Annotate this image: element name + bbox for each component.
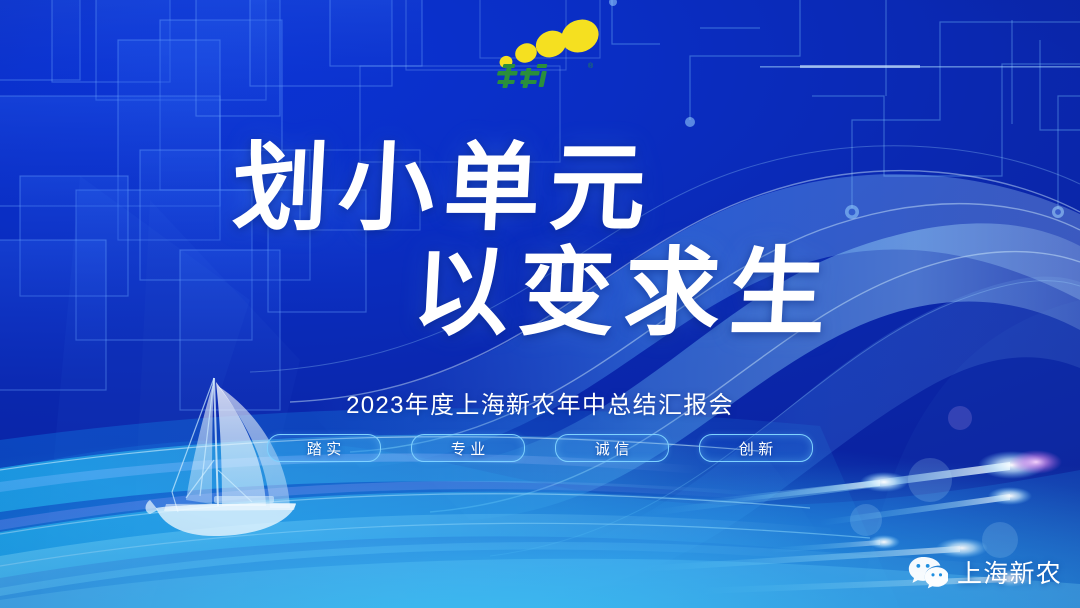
tag-chengxin[interactable]: 诚信 [555, 434, 669, 462]
wechat-account-name: 上海新农 [957, 554, 1062, 590]
headline-line-2: 以变求生 [81, 244, 1080, 345]
logo-dots [498, 14, 602, 70]
headline: 划小单元 以变求生 [0, 140, 1080, 345]
xinnong-logo: ® [492, 14, 602, 98]
poster-canvas: ® 划小单元 以变求生 2023年度上海新农年中总结汇报会 踏实 专业 诚信 创… [0, 0, 1080, 608]
trademark-mark: ® [588, 62, 594, 70]
wechat-icon [908, 555, 948, 589]
tag-zhuanye[interactable]: 专业 [411, 434, 525, 462]
wechat-watermark: 上海新农 [908, 554, 1062, 590]
tag-chuangxin[interactable]: 创新 [699, 434, 813, 462]
tag-tashi[interactable]: 踏实 [267, 434, 381, 462]
value-tag-row: 踏实 专业 诚信 创新 [0, 434, 1080, 462]
headline-line-1: 划小单元 [0, 140, 987, 238]
subtitle: 2023年度上海新农年中总结汇报会 [0, 385, 1080, 420]
logo-wordmark [494, 64, 548, 88]
